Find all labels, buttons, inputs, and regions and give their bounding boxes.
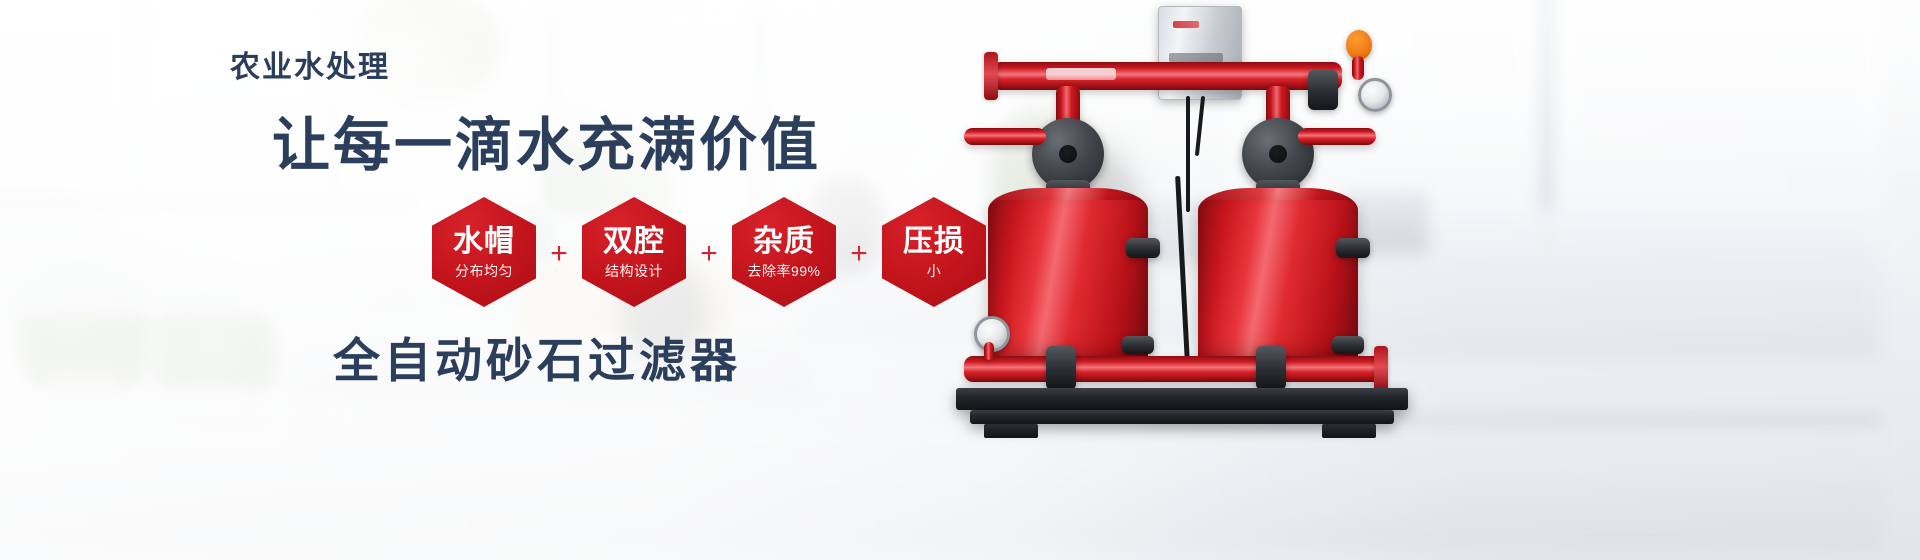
feature-badge-row: 水帽 分布均匀 + 双腔 结构设计 + 杂质 去除率99% + 压损 小 — [432, 197, 986, 307]
tank-right-side-port — [1336, 238, 1370, 258]
top-manifold-pipe — [992, 62, 1342, 90]
control-box-logo — [1169, 53, 1223, 62]
feature-badge: 双腔 结构设计 — [582, 197, 686, 307]
promo-banner: 农业水处理 让每一滴水充满价值 水帽 分布均匀 + 双腔 结构设计 + 杂质 去… — [0, 0, 1920, 560]
base-frame-lower — [970, 410, 1394, 424]
badge-separator: + — [536, 239, 582, 269]
badge-separator: + — [686, 239, 732, 269]
feature-badge-title: 水帽 — [453, 227, 515, 257]
tank-left-drain-clamp — [1122, 336, 1154, 354]
feature-badge: 压损 小 — [882, 197, 986, 307]
feature-badge-subtitle: 去除率99% — [747, 264, 820, 278]
feature-badge: 水帽 分布均匀 — [432, 197, 536, 307]
banner-headline: 让每一滴水充满价值 — [272, 98, 821, 182]
feature-badge-subtitle: 结构设计 — [605, 264, 663, 278]
feature-badge-title: 双腔 — [603, 227, 665, 257]
air-valve-stem — [1352, 56, 1364, 80]
top-right-valve-block — [1308, 70, 1338, 110]
bottom-outlet-flange — [1374, 346, 1388, 392]
control-box-indicator — [1173, 21, 1199, 28]
badge-separator: + — [836, 239, 882, 269]
base-foot-right — [1322, 424, 1376, 438]
flow-direction-label — [1046, 68, 1116, 80]
feature-badge-title: 杂质 — [753, 227, 815, 257]
feature-badge-subtitle: 分布均匀 — [455, 264, 513, 278]
banner-copy: 农业水处理 让每一滴水充满价值 水帽 分布均匀 + 双腔 结构设计 + 杂质 去… — [0, 0, 1000, 560]
pressure-gauge-top — [1358, 78, 1392, 112]
bottom-valve-right — [1256, 346, 1286, 390]
banner-subheadline: 全自动砂石过滤器 — [333, 322, 741, 391]
control-cable-2 — [1195, 96, 1205, 156]
base-frame — [956, 388, 1408, 410]
bottom-manifold-pipe — [964, 356, 1384, 382]
backwash-pipe-right — [1298, 128, 1376, 145]
sand-filter-equipment — [950, 0, 1510, 560]
control-cable-1 — [1186, 96, 1190, 212]
bottom-valve-left — [1046, 346, 1076, 390]
feature-badge: 杂质 去除率99% — [732, 197, 836, 307]
tank-right-drain-clamp — [1332, 336, 1364, 354]
tank-left-side-port — [1126, 238, 1160, 258]
banner-eyebrow: 农业水处理 — [230, 42, 390, 86]
feature-badge-subtitle: 小 — [927, 264, 942, 278]
feature-badge-title: 压损 — [903, 227, 965, 257]
